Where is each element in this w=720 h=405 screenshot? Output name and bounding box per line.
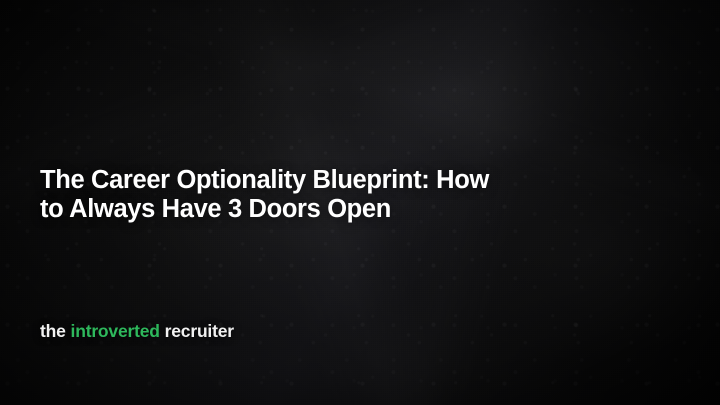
brand-word-introverted: introverted: [71, 321, 160, 341]
card-content: The Career Optionality Blueprint: How to…: [0, 0, 720, 405]
headline-line-1: The Career Optionality Blueprint: How: [40, 166, 560, 195]
brand-word-the: the: [40, 321, 66, 341]
title-card: The Career Optionality Blueprint: How to…: [0, 0, 720, 405]
brand-word-recruiter: recruiter: [165, 321, 234, 341]
headline-line-2: to Always Have 3 Doors Open: [40, 195, 560, 224]
brand-lockup: theintrovertedrecruiter: [40, 320, 234, 342]
headline: The Career Optionality Blueprint: How to…: [40, 166, 560, 224]
